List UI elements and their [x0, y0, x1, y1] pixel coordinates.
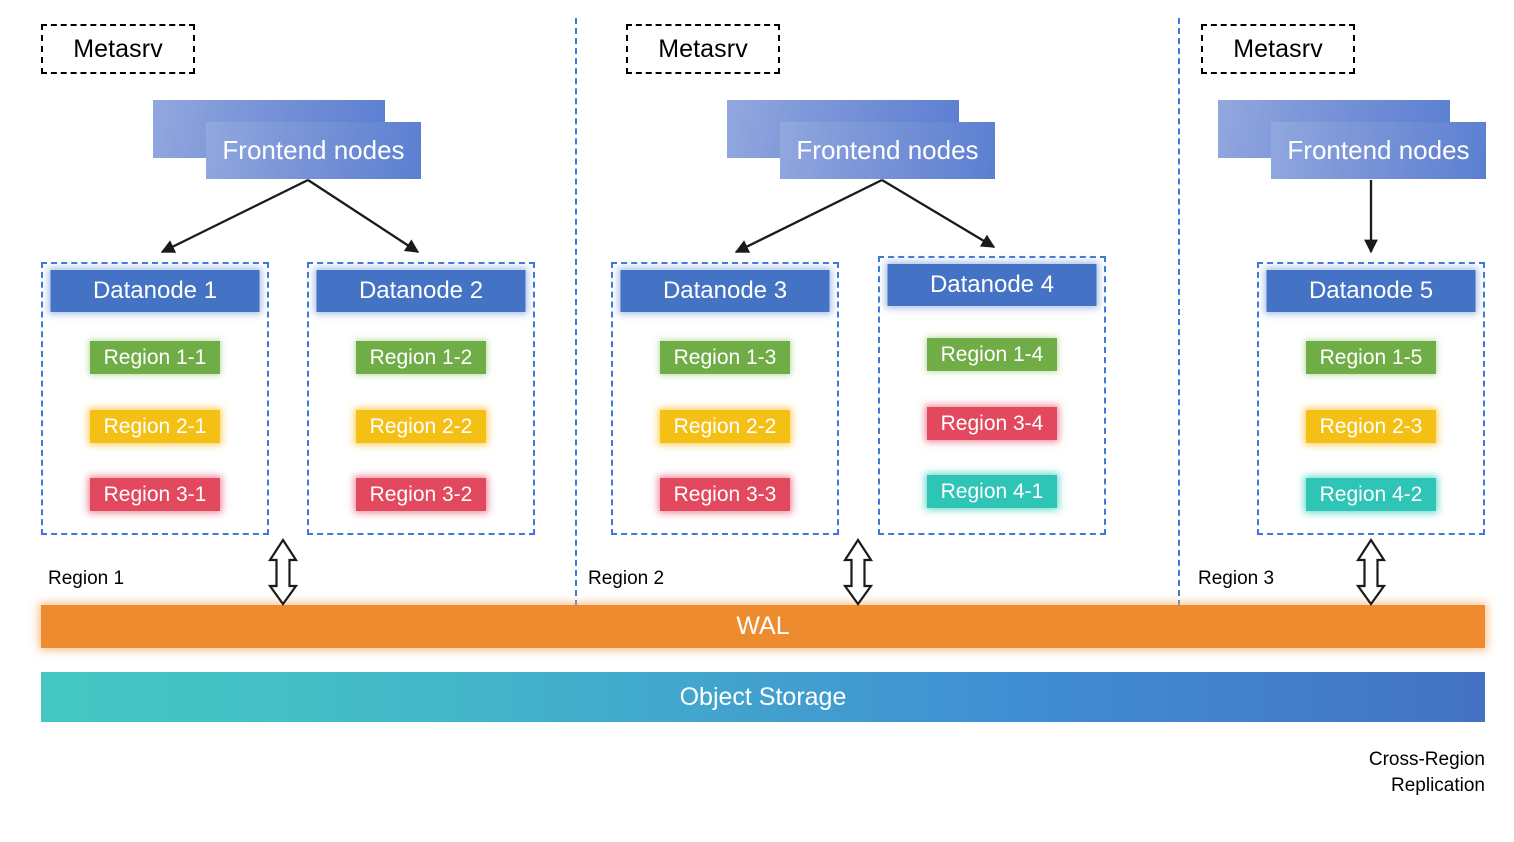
architecture-diagram: Metasrv Frontend nodes Datanode 1 Region… [0, 0, 1514, 842]
region-tag[interactable]: Region 3-4 [927, 407, 1057, 440]
region-tag[interactable]: Region 1-3 [660, 341, 790, 374]
region-tag-label: Region 3-3 [674, 483, 777, 507]
region-tag[interactable]: Region 4-1 [927, 475, 1057, 508]
region-tag[interactable]: Region 1-2 [356, 341, 486, 374]
region-caption-label: Region 2 [588, 568, 664, 589]
datanode-header: Datanode 3 [621, 270, 830, 312]
frontend-nodes-region-1[interactable]: Frontend nodes [153, 100, 423, 180]
double-arrow-wal-region-3 [1358, 540, 1384, 604]
region-divider-2 [1178, 18, 1180, 606]
region-caption-2: Region 2 [588, 568, 664, 590]
cross-region-replication-caption: Cross-Region Replication [1369, 747, 1485, 799]
arrow-frontend-to-datanode-4 [882, 180, 994, 247]
datanode-title: Datanode 1 [93, 277, 217, 305]
datanode-container-2[interactable]: Datanode 2 Region 1-2 Region 2-2 Region … [307, 262, 535, 535]
wal-bar[interactable]: WAL [41, 605, 1485, 648]
datanode-container-3[interactable]: Datanode 3 Region 1-3 Region 2-2 Region … [611, 262, 839, 535]
region-tag[interactable]: Region 2-2 [356, 410, 486, 443]
datanode-container-5[interactable]: Datanode 5 Region 1-5 Region 2-3 Region … [1257, 262, 1485, 535]
region-tag-label: Region 4-2 [1320, 483, 1423, 507]
region-tag-label: Region 2-2 [370, 415, 473, 439]
region-tag-label: Region 1-1 [104, 346, 207, 370]
region-tag-label: Region 1-2 [370, 346, 473, 370]
metasrv-box-region-1[interactable]: Metasrv [41, 24, 195, 74]
region-caption-label: Region 1 [48, 568, 124, 589]
region-tag-label: Region 3-2 [370, 483, 473, 507]
metasrv-label: Metasrv [1233, 35, 1323, 64]
datanode-title: Datanode 4 [930, 271, 1054, 299]
object-storage-bar[interactable]: Object Storage [41, 672, 1485, 722]
region-tag[interactable]: Region 3-1 [90, 478, 220, 511]
frontend-card-front: Frontend nodes [1271, 122, 1486, 179]
region-caption-3: Region 3 [1198, 568, 1274, 590]
region-divider-1 [575, 18, 577, 606]
metasrv-box-region-3[interactable]: Metasrv [1201, 24, 1355, 74]
datanode-header: Datanode 2 [317, 270, 526, 312]
region-tag-label: Region 4-1 [941, 480, 1044, 504]
region-tag[interactable]: Region 1-1 [90, 341, 220, 374]
datanode-header: Datanode 5 [1267, 270, 1476, 312]
datanode-header: Datanode 4 [888, 264, 1097, 306]
region-tag[interactable]: Region 3-3 [660, 478, 790, 511]
datanode-title: Datanode 5 [1309, 277, 1433, 305]
region-tag[interactable]: Region 2-2 [660, 410, 790, 443]
metasrv-label: Metasrv [658, 35, 748, 64]
frontend-nodes-label: Frontend nodes [1287, 135, 1469, 166]
replication-line-1: Cross-Region [1369, 747, 1485, 773]
region-tag-label: Region 2-1 [104, 415, 207, 439]
region-tag-label: Region 2-3 [1320, 415, 1423, 439]
metasrv-box-region-2[interactable]: Metasrv [626, 24, 780, 74]
datanode-container-1[interactable]: Datanode 1 Region 1-1 Region 2-1 Region … [41, 262, 269, 535]
frontend-nodes-label: Frontend nodes [222, 135, 404, 166]
region-tag[interactable]: Region 4-2 [1306, 478, 1436, 511]
datanode-title: Datanode 3 [663, 277, 787, 305]
region-tag-label: Region 1-3 [674, 346, 777, 370]
double-arrow-wal-region-1 [270, 540, 296, 604]
region-tag-label: Region 2-2 [674, 415, 777, 439]
datanode-container-4[interactable]: Datanode 4 Region 1-4 Region 3-4 Region … [878, 256, 1106, 535]
frontend-nodes-region-2[interactable]: Frontend nodes [727, 100, 997, 180]
arrow-frontend-to-datanode-3 [736, 180, 882, 252]
replication-line-2: Replication [1369, 773, 1485, 799]
region-tag-label: Region 1-5 [1320, 346, 1423, 370]
region-caption-1: Region 1 [48, 568, 124, 590]
region-tag-label: Region 3-4 [941, 412, 1044, 436]
frontend-nodes-label: Frontend nodes [796, 135, 978, 166]
arrow-frontend-to-datanode-1 [162, 180, 308, 252]
metasrv-label: Metasrv [73, 35, 163, 64]
region-tag[interactable]: Region 1-5 [1306, 341, 1436, 374]
datanode-header: Datanode 1 [51, 270, 260, 312]
arrow-frontend-to-datanode-2 [308, 180, 418, 252]
frontend-card-front: Frontend nodes [780, 122, 995, 179]
wal-label: WAL [736, 612, 789, 641]
region-tag[interactable]: Region 2-3 [1306, 410, 1436, 443]
region-tag[interactable]: Region 3-2 [356, 478, 486, 511]
double-arrow-wal-region-2 [845, 540, 871, 604]
region-tag[interactable]: Region 2-1 [90, 410, 220, 443]
region-tag-label: Region 3-1 [104, 483, 207, 507]
region-tag[interactable]: Region 1-4 [927, 338, 1057, 371]
region-caption-label: Region 3 [1198, 568, 1274, 589]
object-storage-label: Object Storage [680, 683, 847, 712]
frontend-nodes-region-3[interactable]: Frontend nodes [1218, 100, 1488, 180]
datanode-title: Datanode 2 [359, 277, 483, 305]
frontend-card-front: Frontend nodes [206, 122, 421, 179]
region-tag-label: Region 1-4 [941, 343, 1044, 367]
